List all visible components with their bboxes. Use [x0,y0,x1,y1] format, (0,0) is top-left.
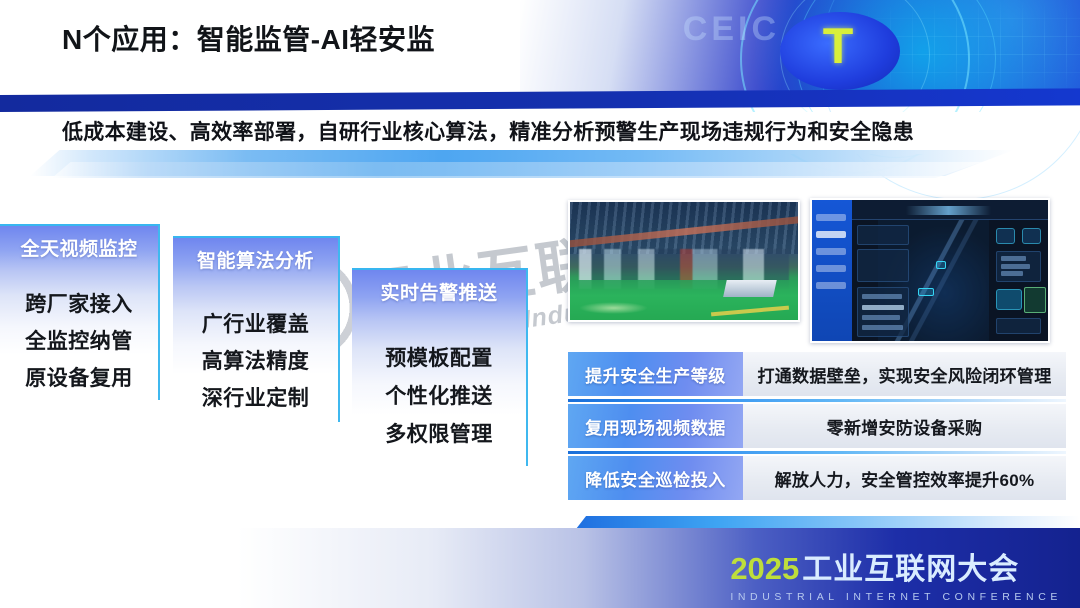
benefit-label-cell: 复用现场视频数据 [568,404,743,448]
dashboard-list-row [862,325,903,330]
benefit-label-cell: 提升安全生产等级 [568,352,743,396]
feature-card-title: 智能算法分析 [173,246,338,273]
benefit-value-cell: 零新增安防设备采购 [743,404,1066,448]
feature-card-item: 全监控纳管 [0,325,158,355]
conference-logo-en: INDUSTRIAL INTERNET CONFERENCE [730,591,1062,603]
dashboard-stat-chip [996,228,1015,244]
dashboard-panel [996,318,1041,334]
benefit-separator [568,399,1066,402]
ribbon-text: 低成本建设、高效率部署，自研行业核心算法，精准分析预警生产现场违规行为和安全隐患 [62,116,1002,146]
dashboard-list-row [862,305,904,310]
factory-photo [568,200,800,322]
feature-card-item: 个性化推送 [352,380,526,410]
benefit-row[interactable]: 复用现场视频数据 零新增安防设备采购 [568,404,1066,448]
benefit-label: 复用现场视频数据 [585,414,726,439]
benefit-label-cell: 降低安全巡检投入 [568,456,743,500]
dashboard-camera-icon [996,289,1022,310]
feature-card-item: 原设备复用 [0,362,158,392]
feature-card-item: 广行业覆盖 [173,308,338,338]
benefit-label: 提升安全生产等级 [585,362,726,387]
feature-card-item: 高算法精度 [173,345,338,375]
benefit-value: 零新增安防设备采购 [827,414,983,439]
feature-card-item: 深行业定制 [173,382,338,412]
dashboard-sidebar [812,200,852,341]
dashboard-sidebar-item [816,231,846,238]
benefit-separator [568,451,1066,454]
ribbon-arrow-shadow-shape [52,162,982,178]
dashboard-sidebar-item [816,282,846,289]
benefits-list: 提升安全生产等级 打通数据壁垒，实现安全风险闭环管理 复用现场视频数据 零新增安… [568,352,1066,502]
dashboard-map-node-icon [918,288,934,296]
dashboard-list-row [862,294,902,299]
benefit-label: 降低安全巡检投入 [585,466,726,491]
benefit-value-cell: 解放人力，安全管控效率提升60% [743,456,1066,500]
conference-logo-cn: 工业互联网大会 [802,544,1019,588]
dashboard-sidebar-item [816,248,846,255]
factory-photo-cart [723,280,777,297]
feature-card-item: 多权限管理 [352,418,526,448]
benefit-row[interactable]: 提升安全生产等级 打通数据壁垒，实现安全风险闭环管理 [568,352,1066,396]
benefit-value: 打通数据壁垒，实现安全风险闭环管理 [757,362,1051,387]
dashboard-stat-chip [1022,228,1041,244]
dashboard-panel [857,249,909,281]
feature-card-item: 跨厂家接入 [0,288,158,318]
benefit-row[interactable]: 降低安全巡检投入 解放人力，安全管控效率提升60% [568,456,1066,500]
dashboard-sidebar-item [816,265,846,272]
header-t-logo-icon: T [810,24,866,72]
conference-logo-year: 2025 [730,551,799,587]
dashboard-screenshot [810,198,1050,343]
header-ghost-text: CEIC [683,10,780,49]
dashboard-list-row [1001,256,1027,261]
header-tech-graphic: CEIC T [520,0,1080,96]
dashboard-title-bar [906,206,991,216]
dashboard-list-row [1001,271,1023,276]
feature-card-realtime-alarm[interactable]: 实时告警推送 预模板配置 个性化推送 多权限管理 [352,268,528,466]
conference-logo: 2025 工业互联网大会 INDUSTRIAL INTERNET CONFERE… [730,544,1062,603]
benefit-value-cell: 打通数据壁垒，实现安全风险闭环管理 [743,352,1066,396]
dashboard-status-badge [1024,287,1045,312]
dashboard-map-node-icon [936,261,946,269]
benefit-value: 解放人力，安全管控效率提升60% [775,466,1035,491]
feature-card-item: 预模板配置 [352,342,526,372]
dashboard-list-row [862,315,900,320]
page-title: N个应用：智能监管-AI轻安监 [62,18,435,58]
conference-logo-line1: 2025 工业互联网大会 [730,544,1062,588]
slide-header: CEIC T N个应用：智能监管-AI轻安监 [0,0,1080,112]
dashboard-panel [857,287,909,336]
slide-root: CEIC T N个应用：智能监管-AI轻安监 低成本建设、高效率部署，自研行业核… [0,0,1080,608]
feature-card-algorithm-analysis[interactable]: 智能算法分析 广行业覆盖 高算法精度 深行业定制 [173,236,340,422]
slide-footer: 2025 工业互联网大会 INDUSTRIAL INTERNET CONFERE… [0,528,1080,608]
feature-card-title: 全天视频监控 [0,234,158,261]
headline-ribbon: 低成本建设、高效率部署，自研行业核心算法，精准分析预警生产现场违规行为和安全隐患 [0,110,1080,180]
feature-card-video-monitoring[interactable]: 全天视频监控 跨厂家接入 全监控纳管 原设备复用 [0,224,160,400]
feature-card-title: 实时告警推送 [352,278,526,305]
dashboard-panel [857,225,909,245]
dashboard-panel [996,251,1041,282]
dashboard-list-row [1001,264,1031,269]
dashboard-sidebar-item [816,214,846,221]
